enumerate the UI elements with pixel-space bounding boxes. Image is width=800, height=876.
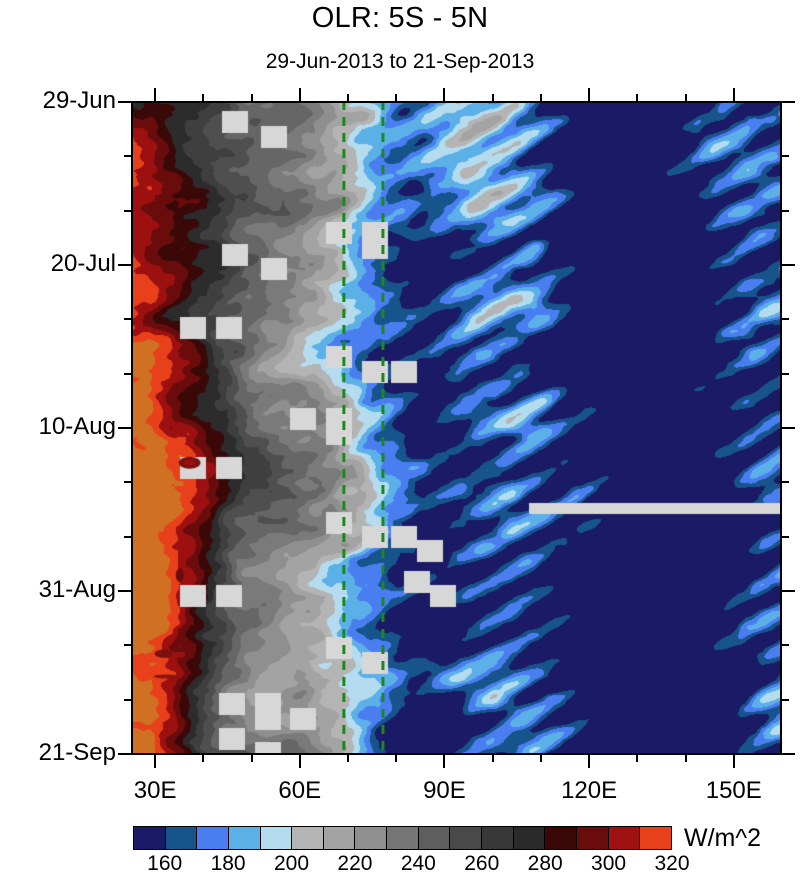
y-axis-minor-tick [124,210,131,212]
y-axis-minor-tick [124,318,131,320]
x-axis-major-tick [154,88,156,101]
colorbar-unit-label: W/m^2 [684,824,761,853]
y-axis-label-29-jun: 29-Jun [0,87,116,115]
x-axis-minor-tick [395,94,397,101]
y-axis-label-31-aug: 31-Aug [0,576,116,604]
reference-lines-overlay [131,101,782,755]
y-axis-major-tick [782,427,795,429]
colorbar-tick-240: 240 [383,852,453,876]
x-axis-label-60e: 60E [240,777,360,805]
x-axis-minor-tick [251,755,253,762]
y-axis-minor-tick [124,699,131,701]
x-axis-minor-tick [540,94,542,101]
x-axis-minor-tick [347,94,349,101]
x-axis-minor-tick [202,94,204,101]
x-axis-minor-tick [636,94,638,101]
x-axis-major-tick [733,88,735,101]
colorbar-cell-2[interactable] [197,827,229,849]
colorbar-cell-15[interactable] [609,827,641,849]
x-axis-label-120e: 120E [529,777,649,805]
y-axis-minor-tick [124,536,131,538]
y-axis-major-tick [782,264,795,266]
y-axis-major-tick [782,590,795,592]
y-axis-minor-tick [782,318,789,320]
y-axis-label-10-aug: 10-Aug [0,413,116,441]
colorbar-tick-200: 200 [257,852,327,876]
colorbar-tick-180: 180 [193,852,263,876]
x-axis-major-tick [299,755,301,768]
x-axis-label-30e: 30E [95,777,215,805]
colorbar-cell-9[interactable] [419,827,451,849]
y-axis-major-tick [118,753,131,755]
x-axis-label-90e: 90E [384,777,504,805]
colorbar-cell-16[interactable] [640,827,671,849]
x-axis-minor-tick [685,755,687,762]
x-axis-major-tick [299,88,301,101]
chart-title: OLR: 5S - 5N [0,2,800,35]
y-axis-minor-tick [124,155,131,157]
colorbar[interactable]: 160180200220240260280300320 [133,826,672,850]
x-axis-minor-tick [636,755,638,762]
x-axis-minor-tick [492,94,494,101]
colorbar-cell-13[interactable] [545,827,577,849]
x-axis-minor-tick [492,755,494,762]
x-axis-label-150e: 150E [674,777,794,805]
y-axis-label-20-jul: 20-Jul [0,250,116,278]
chart-subtitle: 29-Jun-2013 to 21-Sep-2013 [0,50,800,74]
x-axis-minor-tick [395,755,397,762]
y-axis-label-21-sep: 21-Sep [0,739,116,767]
x-axis-minor-tick [251,94,253,101]
x-axis-major-tick [443,755,445,768]
colorbar-tick-300: 300 [574,852,644,876]
plot-area: 30E60E90E120E150E29-Jun20-Jul10-Aug31-Au… [131,101,782,755]
y-axis-minor-tick [782,210,789,212]
y-axis-minor-tick [782,644,789,646]
y-axis-minor-tick [124,481,131,483]
y-axis-major-tick [118,590,131,592]
colorbar-cell-10[interactable] [450,827,482,849]
colorbar-cell-4[interactable] [261,827,293,849]
y-axis-minor-tick [124,644,131,646]
colorbar-cell-3[interactable] [229,827,261,849]
x-axis-major-tick [588,755,590,768]
x-axis-minor-tick [685,94,687,101]
y-axis-major-tick [782,101,795,103]
y-axis-minor-tick [782,481,789,483]
y-axis-major-tick [118,264,131,266]
x-axis-major-tick [443,88,445,101]
x-axis-minor-tick [347,755,349,762]
colorbar-cell-5[interactable] [292,827,324,849]
colorbar-tick-320: 320 [637,852,707,876]
y-axis-major-tick [118,101,131,103]
x-axis-minor-tick [540,755,542,762]
colorbar-cell-0[interactable] [134,827,166,849]
y-axis-minor-tick [124,373,131,375]
colorbar-cell-8[interactable] [387,827,419,849]
y-axis-major-tick [118,427,131,429]
y-axis-minor-tick [782,155,789,157]
colorbar-tick-260: 260 [447,852,517,876]
x-axis-minor-tick [202,755,204,762]
colorbar-cell-12[interactable] [514,827,546,849]
colorbar-cell-7[interactable] [355,827,387,849]
colorbar-cell-1[interactable] [166,827,198,849]
x-axis-major-tick [733,755,735,768]
x-axis-major-tick [154,755,156,768]
colorbar-tick-220: 220 [320,852,390,876]
y-axis-minor-tick [782,536,789,538]
colorbar-cells[interactable] [133,826,672,850]
colorbar-tick-160: 160 [130,852,200,876]
colorbar-cell-11[interactable] [482,827,514,849]
colorbar-cell-6[interactable] [324,827,356,849]
y-axis-minor-tick [782,373,789,375]
x-axis-major-tick [588,88,590,101]
colorbar-tick-280: 280 [510,852,580,876]
y-axis-minor-tick [782,699,789,701]
y-axis-major-tick [782,753,795,755]
colorbar-cell-14[interactable] [577,827,609,849]
